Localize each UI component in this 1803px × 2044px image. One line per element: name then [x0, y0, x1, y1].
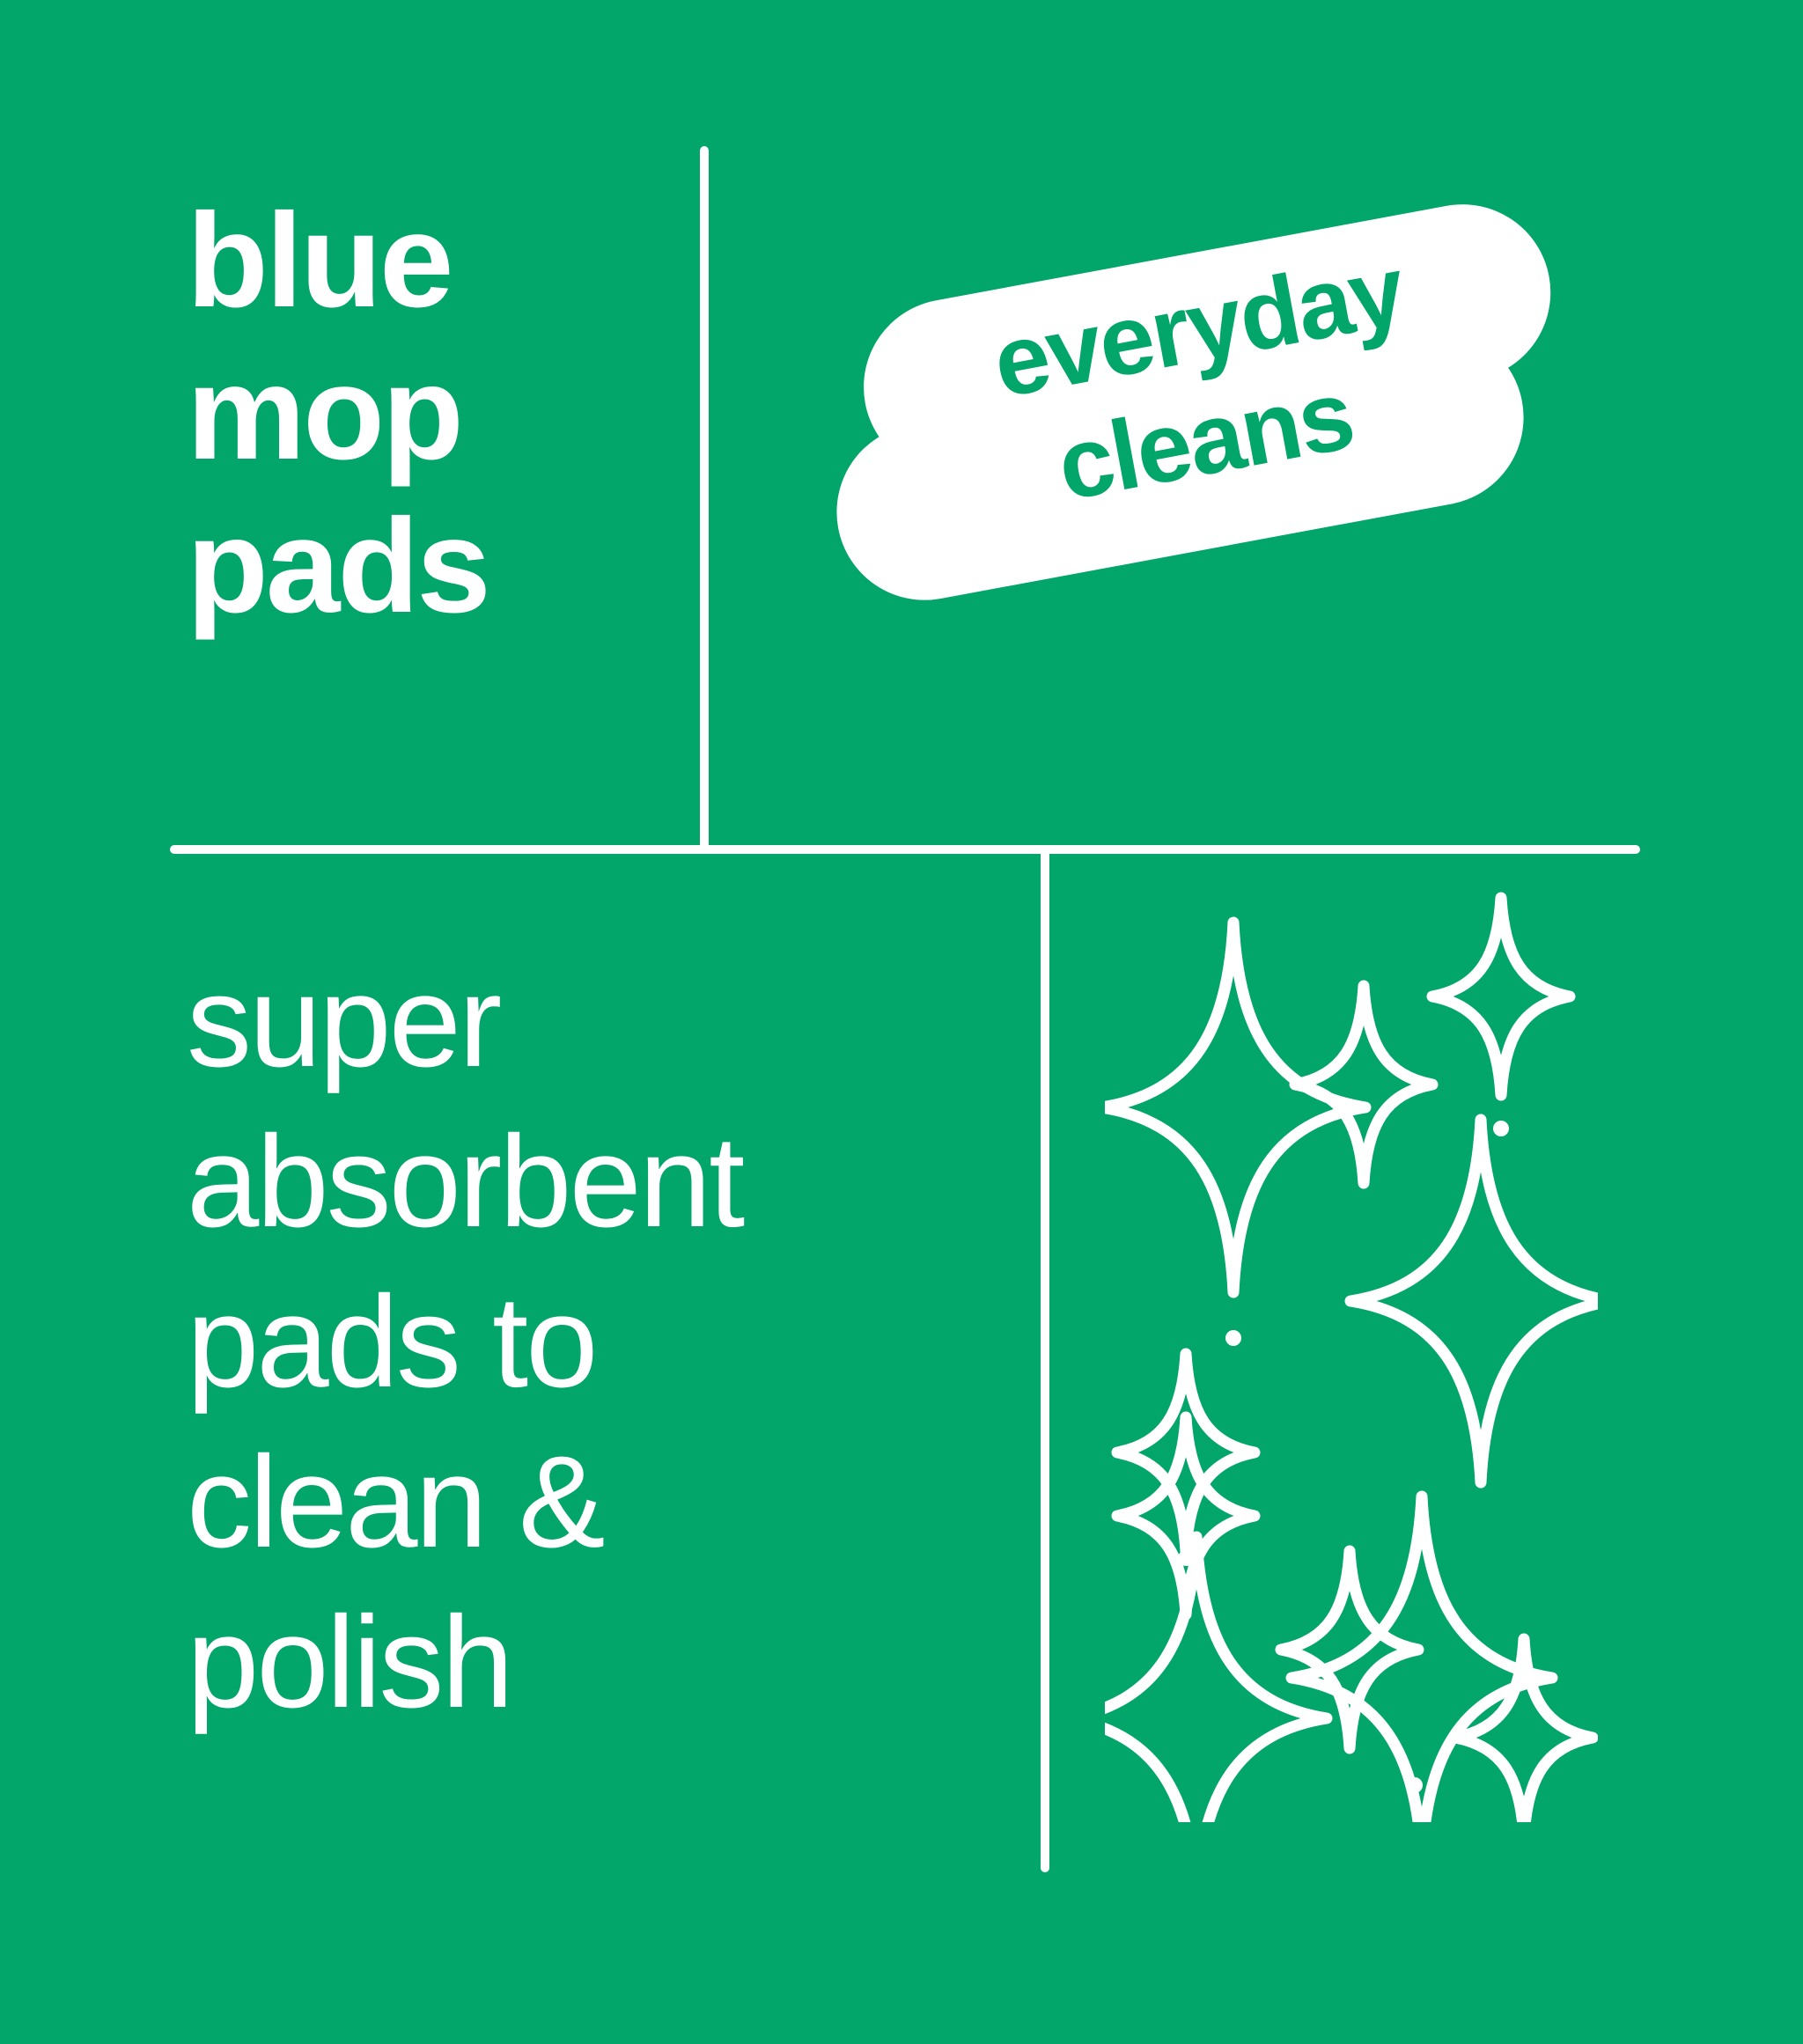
divider-vertical-bottom — [1041, 849, 1049, 1872]
headline-line-2: mop — [187, 337, 662, 489]
body-copy-line-3: pads to — [187, 1262, 1014, 1423]
sparkles-icon — [1105, 889, 1598, 1822]
body-copy-line-2: absorbent — [187, 1102, 1014, 1262]
body-copy-line-1: super — [187, 942, 1014, 1102]
body-copy: super absorbent pads to clean & polish — [187, 942, 1014, 1743]
page-title: blue mop pads — [187, 185, 662, 643]
badge-text: everyday cleans — [798, 172, 1615, 699]
body-copy-line-5: polish — [187, 1583, 1014, 1743]
divider-horizontal — [170, 845, 1640, 854]
body-copy-line-4: clean & — [187, 1423, 1014, 1583]
product-feature-poster: blue mop pads everyday cleans super abso… — [0, 0, 1803, 2044]
everyday-cleans-badge: everyday cleans — [828, 238, 1585, 634]
headline-line-1: blue — [187, 185, 662, 337]
headline-line-3: pads — [187, 490, 662, 643]
divider-vertical-top — [700, 146, 709, 850]
badge-shape: everyday cleans — [798, 172, 1615, 699]
